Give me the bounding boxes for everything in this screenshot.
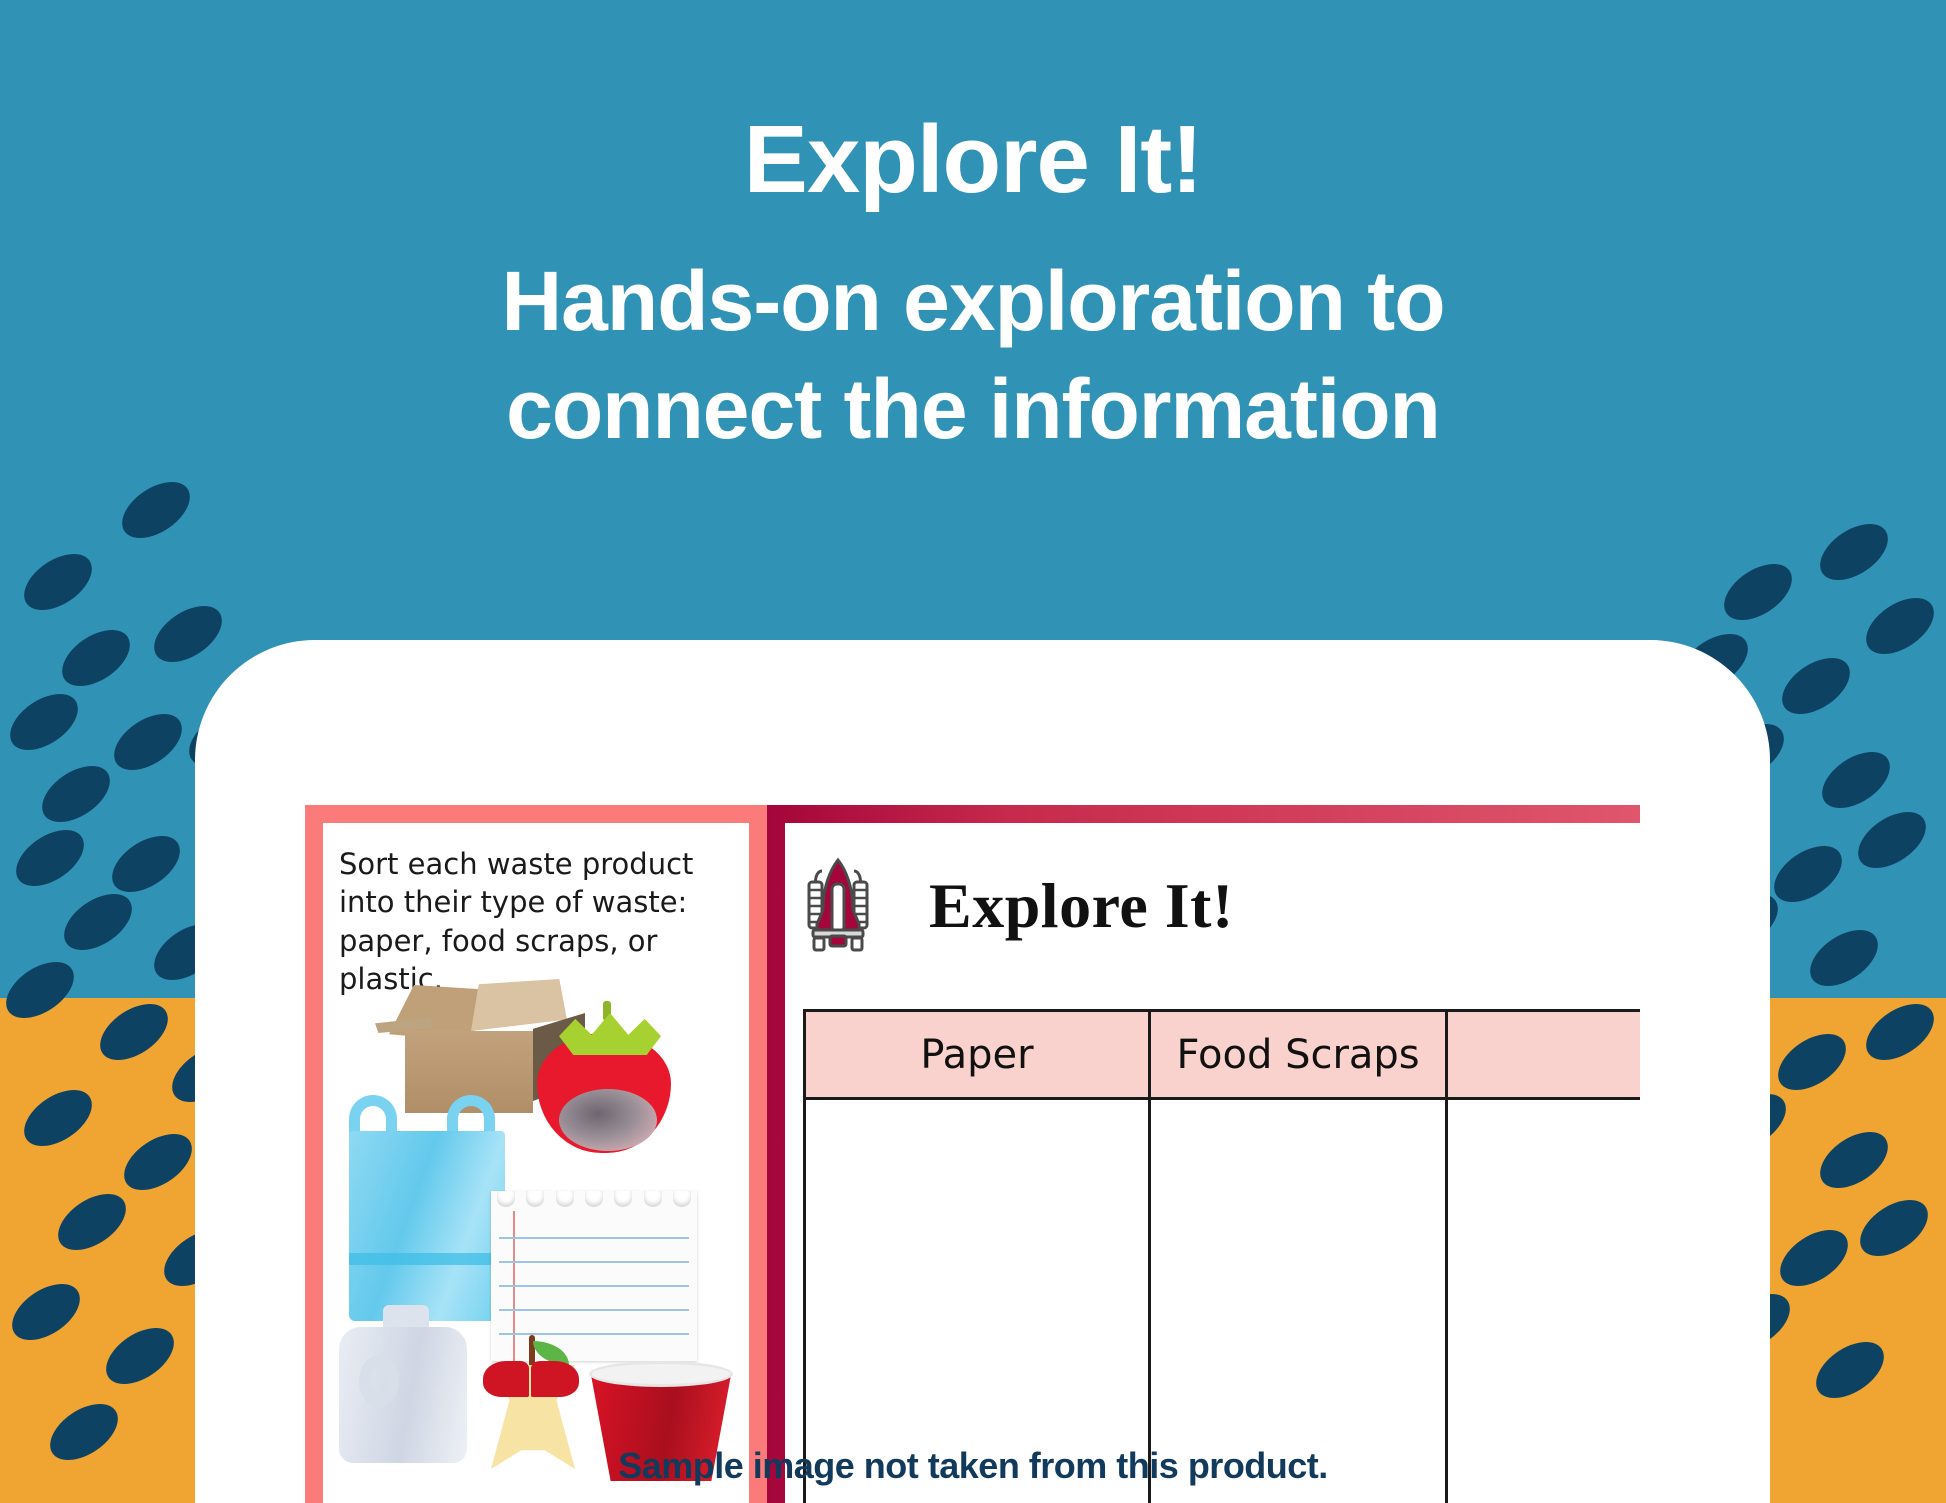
sample-image-caption: Sample image not taken from this product…: [0, 1445, 1946, 1487]
table-cell-plastic[interactable]: [1447, 1099, 1640, 1503]
worksheet-title: Explore It!: [929, 869, 1234, 943]
paper-hole: [644, 1191, 662, 1207]
bag-body: [349, 1131, 505, 1321]
hero-text-block: Explore It! Hands-on exploration to conn…: [0, 0, 1946, 463]
table-cell-paper[interactable]: [805, 1099, 1150, 1503]
worksheet-page: Sort each waste product into their type …: [305, 805, 1640, 1503]
worksheet-right-panel: Explore It! Paper Food Scraps: [767, 805, 1640, 1503]
apple-skin-left: [483, 1361, 529, 1397]
paper-rule-line: [499, 1237, 689, 1239]
hero-subtitle: Hands-on exploration to connect the info…: [0, 248, 1946, 463]
table-header-food-scraps: Food Scraps: [1149, 1011, 1446, 1099]
strawberry-mold: [559, 1089, 657, 1151]
table-cell-food-scraps[interactable]: [1149, 1099, 1446, 1503]
paper-hole: [556, 1191, 574, 1207]
space-shuttle-icon: [803, 856, 873, 956]
table-header-plastic: [1447, 1011, 1640, 1099]
plastic-bag-icon: [343, 1089, 511, 1321]
hero-subtitle-line-1: Hands-on exploration to: [0, 248, 1946, 356]
hero-title: Explore It!: [0, 112, 1946, 208]
worksheet-right-panel-inner: Explore It! Paper Food Scraps: [785, 823, 1640, 1503]
table-row: [805, 1099, 1641, 1503]
milk-jug-icon: [339, 1303, 467, 1463]
paper-hole: [526, 1191, 544, 1207]
strawberry-leaf: [559, 1013, 661, 1055]
jug-body: [339, 1327, 467, 1463]
paper-rule-line: [499, 1285, 689, 1287]
cup-rim: [589, 1361, 733, 1387]
paper-rule-line: [499, 1261, 689, 1263]
worksheet-title-row: Explore It!: [785, 823, 1640, 959]
worksheet-left-panel-inner: Sort each waste product into their type …: [323, 823, 749, 1503]
paper-hole: [585, 1191, 603, 1207]
table-header-row: Paper Food Scraps: [805, 1011, 1641, 1099]
jug-handle: [359, 1355, 399, 1407]
paper-hole: [614, 1191, 632, 1207]
paper-rule-line: [499, 1309, 689, 1311]
paper-hole: [673, 1191, 691, 1207]
bag-fold-band: [349, 1253, 505, 1265]
worksheet-left-panel: Sort each waste product into their type …: [305, 805, 767, 1503]
moldy-strawberry-icon: [531, 997, 677, 1157]
clipart-group: [323, 963, 749, 1503]
apple-skin-right: [531, 1361, 579, 1397]
paper-hole-row: [491, 1191, 697, 1211]
paper-hole: [497, 1191, 515, 1207]
hero-subtitle-line-2: connect the information: [0, 356, 1946, 464]
waste-sorting-table: Paper Food Scraps: [803, 1009, 1640, 1503]
table-header-paper: Paper: [805, 1011, 1150, 1099]
